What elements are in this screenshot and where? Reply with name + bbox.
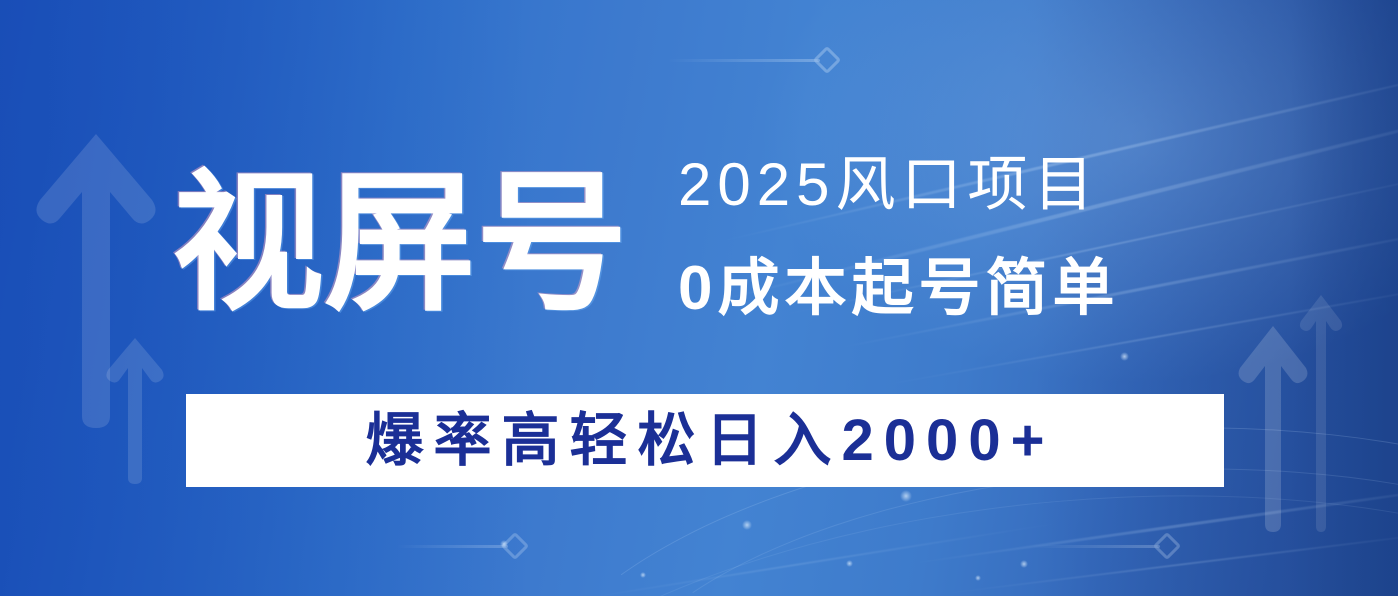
marker-line [396, 545, 508, 548]
headline-line-2: 0成本起号简单 [678, 256, 1278, 322]
diamond-icon [1153, 532, 1181, 560]
diamond-marker-top [668, 50, 837, 70]
diamond-icon [501, 532, 529, 560]
diamond-marker-bottom-left [396, 536, 525, 556]
marker-line [668, 59, 820, 62]
marker-line [1032, 545, 1160, 548]
tall-up-arrow-right-icon [1298, 292, 1344, 532]
small-up-arrow-left-icon [104, 334, 166, 484]
highlight-banner: 爆率高轻松日入2000+ [186, 394, 1224, 487]
banner-text: 爆率高轻松日入2000+ [356, 411, 1055, 471]
headline-line-1: 2025风口项目 [678, 152, 1278, 218]
diamond-icon [813, 46, 841, 74]
promo-poster: 视屏号 2025风口项目 0成本起号简单 爆率高轻松日入2000+ [0, 0, 1398, 596]
diamond-marker-bottom-right [1032, 536, 1177, 556]
headline-block: 2025风口项目 0成本起号简单 [678, 152, 1278, 322]
main-title: 视屏号 [172, 168, 628, 320]
